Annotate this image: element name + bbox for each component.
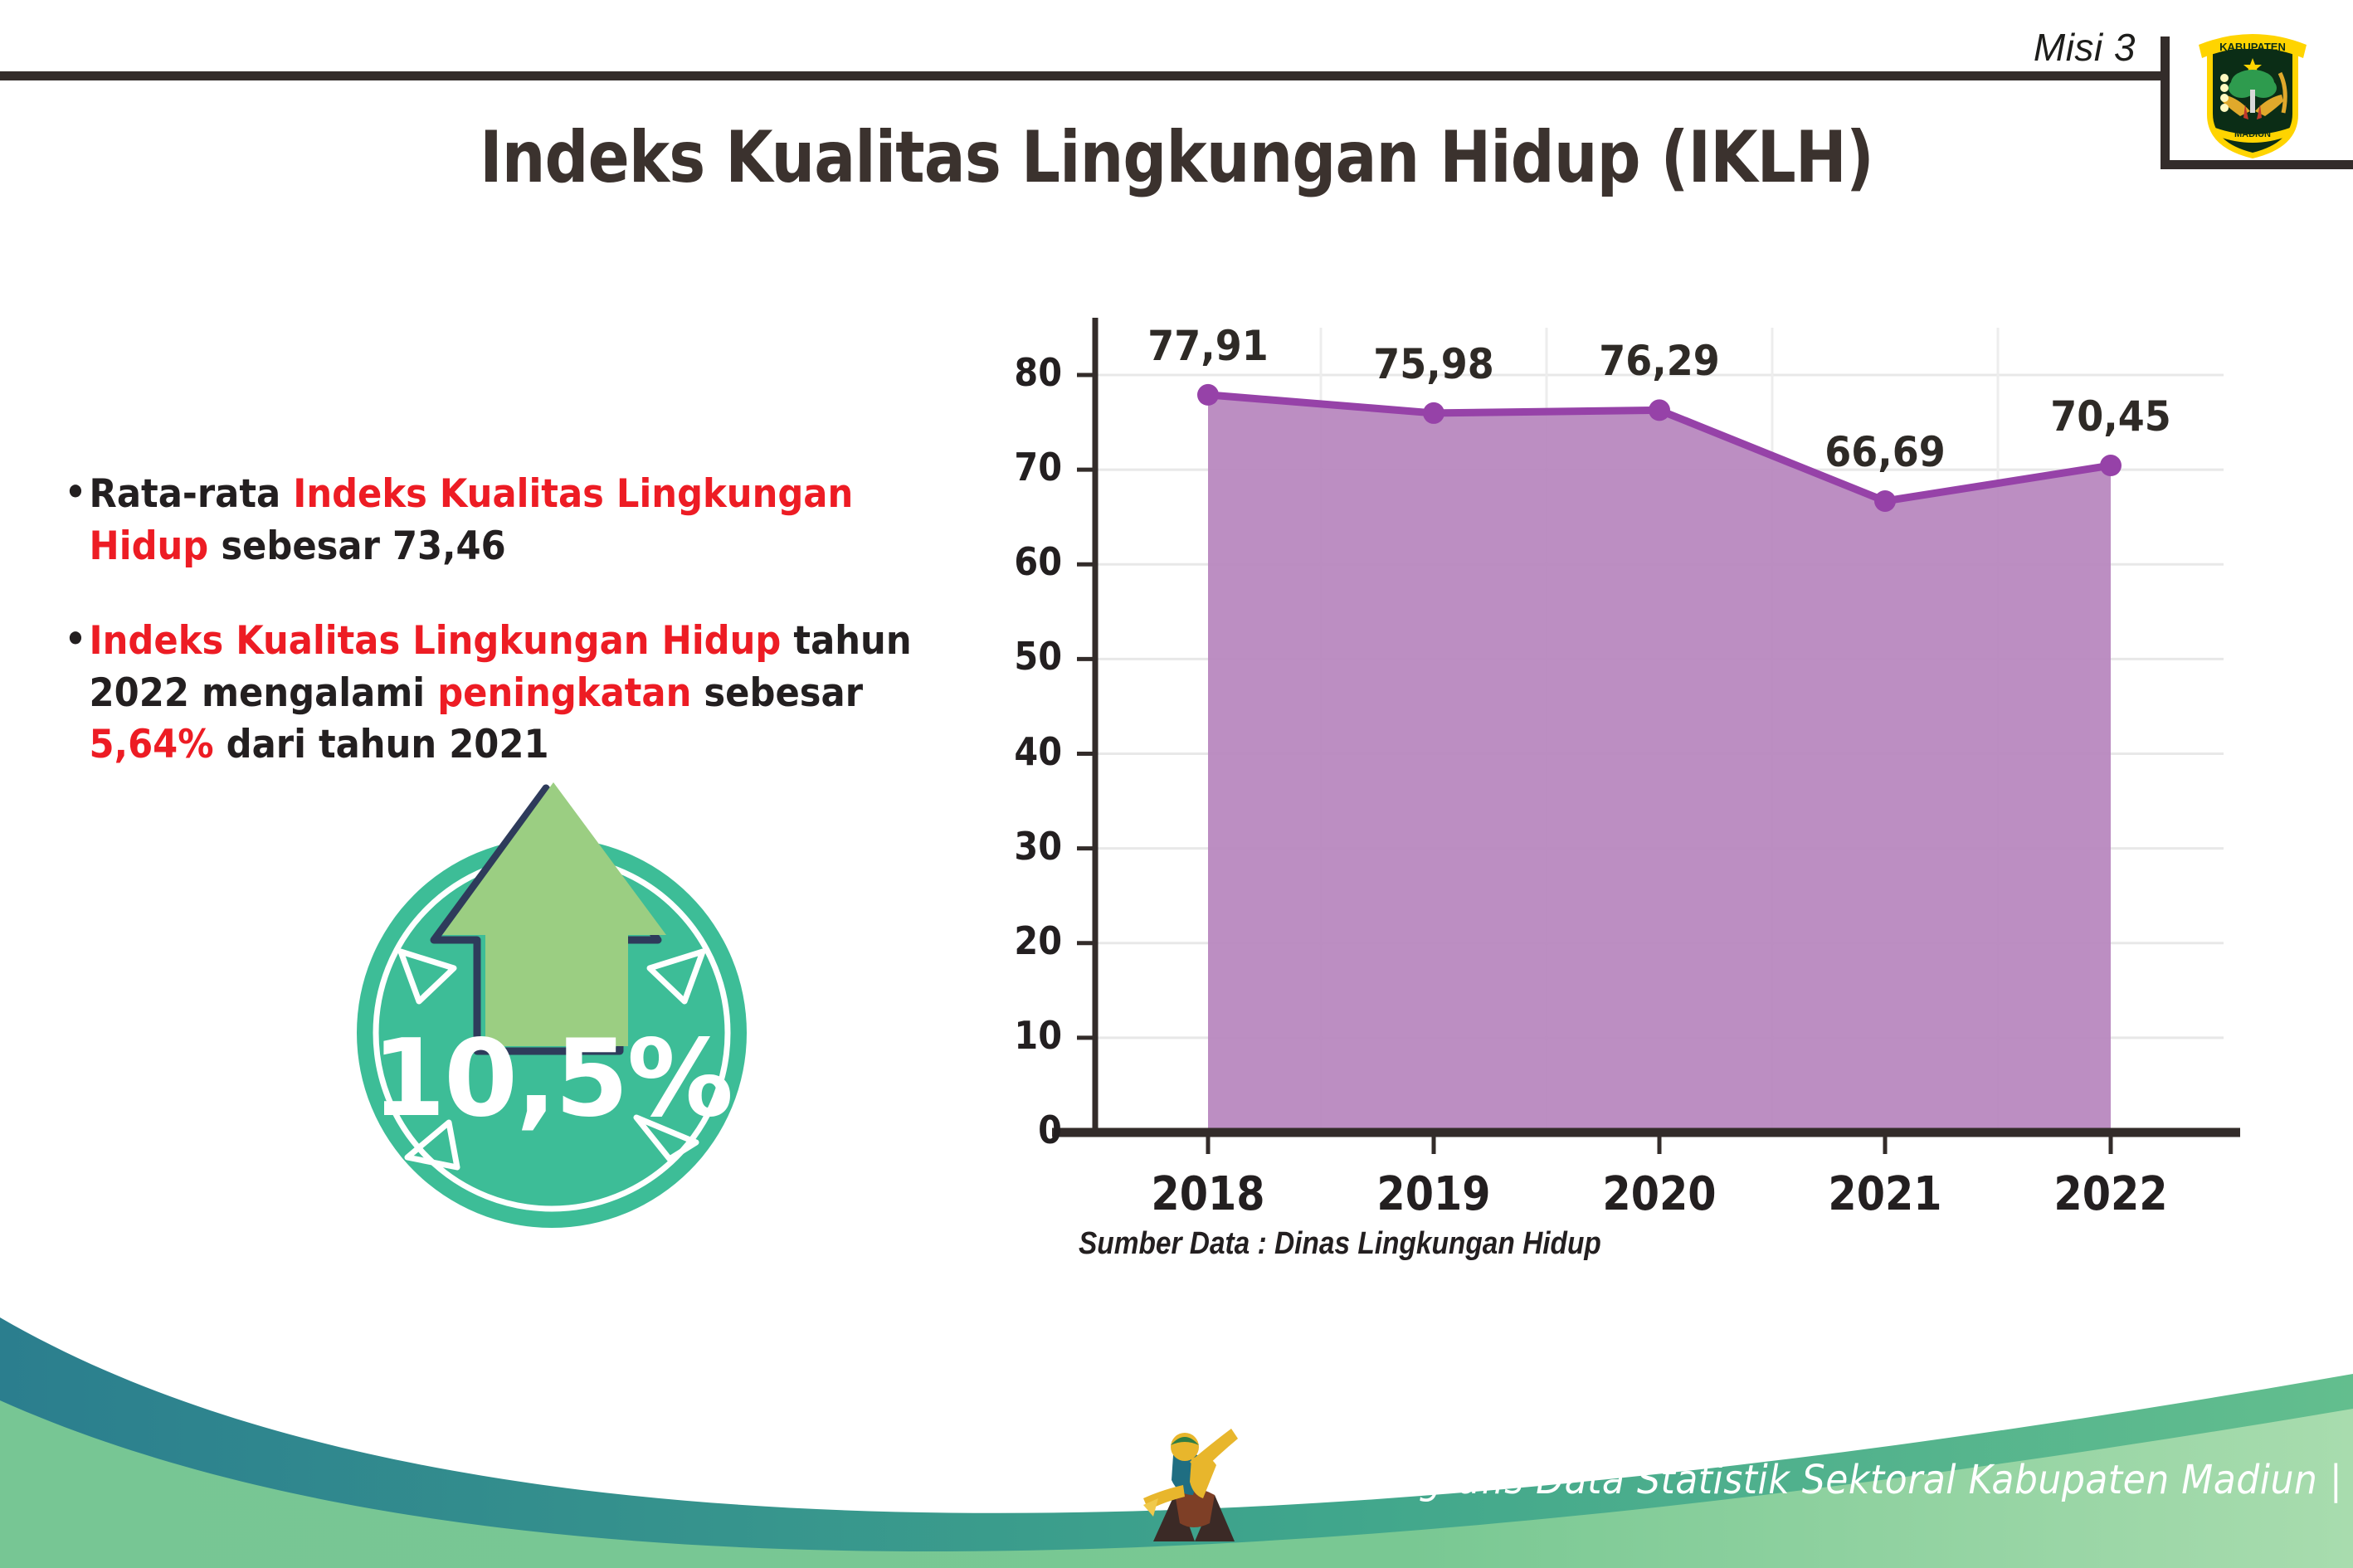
bullet-marker: • [65,616,86,665]
x-axis-tick-label: 2020 [1579,1167,1740,1221]
list-item: • Indeks Kualitas Lingkungan Hidup tahun… [65,616,928,772]
data-point-label: 76,29 [1568,337,1751,385]
header-frame-bottom [2161,160,2353,169]
svg-text:KABUPATEN: KABUPATEN [2219,41,2286,53]
y-axis-tick-label: 10 [987,1013,1062,1058]
data-point-label: 66,69 [1794,428,1977,476]
y-axis-tick-label: 70 [987,445,1062,489]
y-axis-tick-label: 0 [987,1108,1062,1152]
iklh-area-chart: 010203040506070802018201920202021202277,… [979,295,2240,1182]
infographic-page: Misi 3 KABUPATEN [0,0,2353,1568]
x-axis-tick-label: 2019 [1353,1167,1514,1221]
bullet-text: Rata-rata Indeks Kualitas Lingkungan Hid… [90,469,928,572]
bullet-marker: • [65,469,86,518]
header-rule [0,71,2165,80]
data-point-label: 75,98 [1342,340,1526,388]
y-axis-tick-label: 30 [987,824,1062,869]
bullet-text: Indeks Kualitas Lingkungan Hidup tahun 2… [90,616,928,772]
data-point-label: 70,45 [2019,392,2203,441]
x-axis-tick-label: 2022 [2030,1167,2191,1221]
y-axis-tick-label: 80 [987,350,1062,395]
y-axis-tick-label: 50 [987,634,1062,679]
y-axis-tick-label: 20 [987,918,1062,963]
misi-label: Misi 3 [2034,25,2136,70]
x-axis-tick-label: 2021 [1805,1167,1966,1221]
bullet-segment: sebesar [691,670,863,716]
footer-caption: Media Infografis Data Statistik Sektoral… [1224,1457,2342,1503]
kabupaten-madiun-logo-icon: KABUPATEN MADIUN [2190,15,2315,160]
y-axis-tick-label: 60 [987,539,1062,584]
up-arrow-increase-badge-icon [328,759,776,1232]
increase-badge: 10,5% [328,759,776,1232]
bullet-segment: Rata-rata [90,471,294,517]
bullet-segment-highlight: peningkatan [437,670,691,716]
page-title: Indeks Kualitas Lingkungan Hidup (IKLH) [165,116,2189,199]
bullet-segment-highlight: Indeks Kualitas Lingkungan Hidup [90,618,782,664]
chart-source-note: Sumber Data : Dinas Lingkungan Hidup [1079,1226,1601,1262]
y-axis-tick-label: 40 [987,729,1062,774]
svg-text:MADIUN: MADIUN [2234,129,2271,139]
list-item: • Rata-rata Indeks Kualitas Lingkungan H… [65,469,928,572]
bullet-segment-highlight: 5,64% [90,722,214,767]
data-point-label: 77,91 [1117,322,1300,370]
bullet-segment: sebesar 73,46 [208,523,505,569]
x-axis-tick-label: 2018 [1128,1167,1289,1221]
